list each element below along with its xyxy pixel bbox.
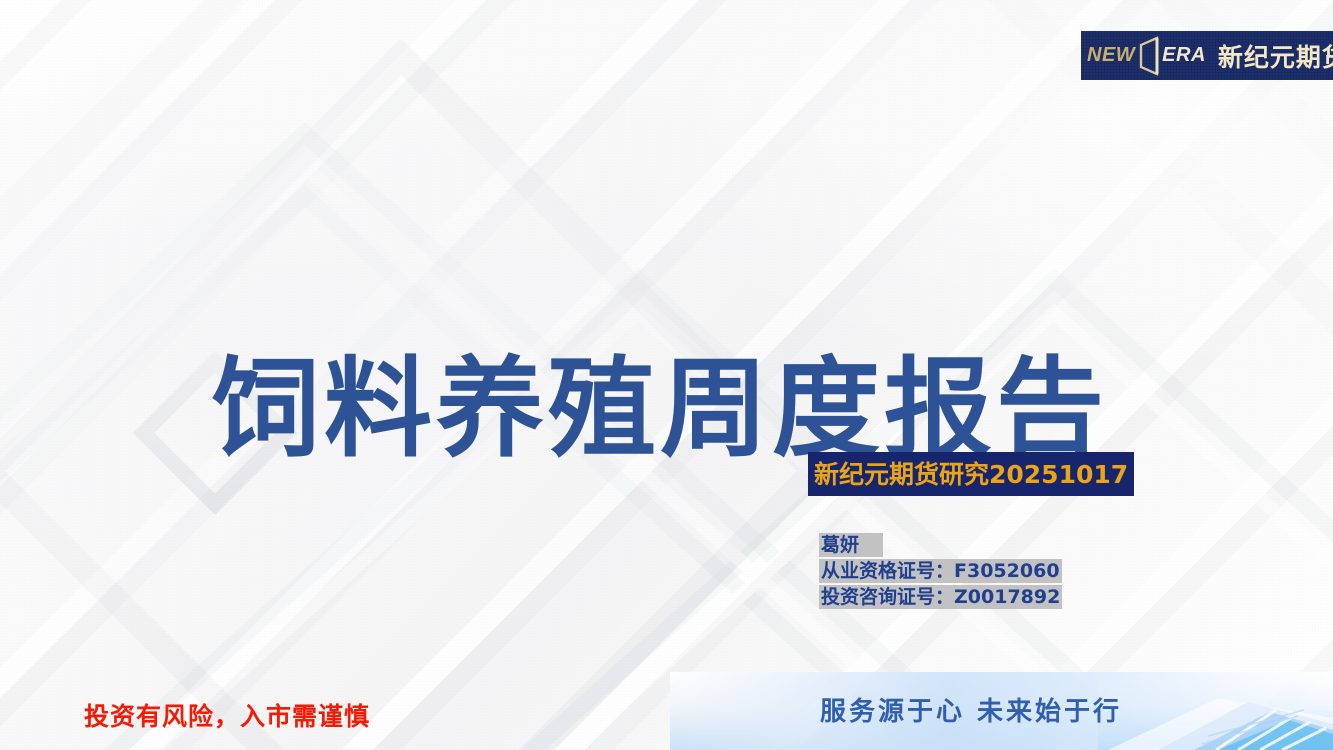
gate-mark-icon bbox=[1137, 36, 1161, 76]
footer-slogan: 服务源于心 未来始于行 bbox=[820, 691, 1122, 728]
logo-latin-mark: NEW ERA bbox=[1087, 36, 1206, 76]
author-name-row: 葛妍 bbox=[819, 532, 1062, 558]
logo-text-chinese: 新纪元期货 bbox=[1218, 38, 1333, 74]
risk-disclaimer: 投资有风险，入市需谨慎 bbox=[84, 697, 370, 733]
consulting-row: 投资咨询证号：Z0017892 bbox=[819, 584, 1062, 610]
consulting-number: Z0017892 bbox=[954, 586, 1060, 608]
building-illustration bbox=[1098, 672, 1333, 750]
company-logo[interactable]: NEW ERA 新纪元期货 bbox=[1081, 31, 1333, 80]
qualification-number: F3052060 bbox=[954, 560, 1060, 582]
author-credentials: 葛妍 从业资格证号：F3052060 投资咨询证号：Z0017892 bbox=[819, 532, 1062, 611]
qualification-label: 从业资格证号： bbox=[821, 560, 954, 582]
qualification-row: 从业资格证号：F3052060 bbox=[819, 558, 1062, 584]
consulting-label: 投资咨询证号： bbox=[821, 586, 954, 608]
presentation-slide: NEW ERA 新纪元期货 饲料养殖周度报告 新纪元期货研究20251017 葛… bbox=[0, 0, 1333, 750]
logo-text-era: ERA bbox=[1162, 44, 1206, 67]
footer-band: 服务源于心 未来始于行 bbox=[670, 672, 1333, 750]
page-title: 饲料养殖周度报告 bbox=[212, 353, 1108, 467]
logo-text-new: NEW bbox=[1087, 44, 1135, 67]
author-name: 葛妍 bbox=[819, 533, 883, 557]
research-banner: 新纪元期货研究20251017 bbox=[808, 452, 1134, 496]
